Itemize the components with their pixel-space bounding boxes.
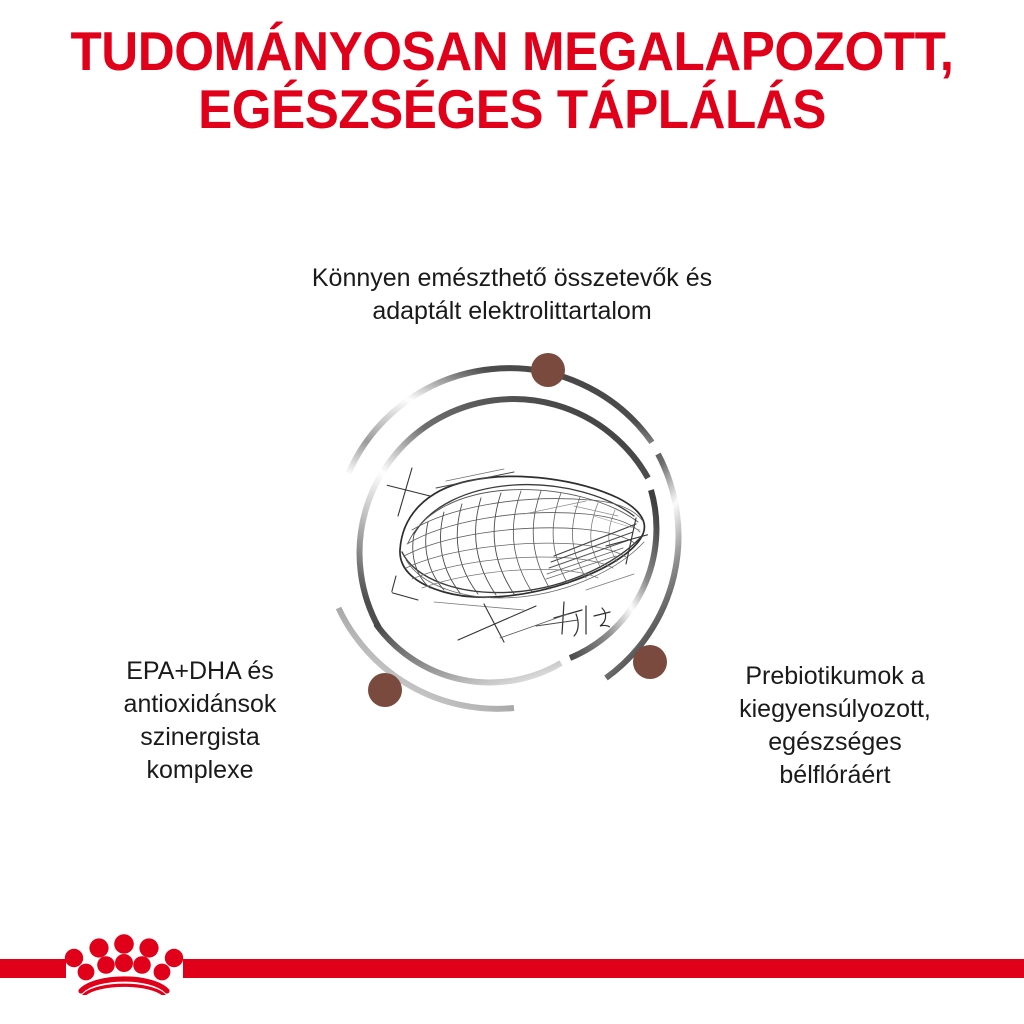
royal-canin-crown-icon bbox=[62, 925, 186, 995]
node-dot-bottom-left bbox=[368, 673, 402, 707]
outer-ring bbox=[339, 368, 679, 709]
kibble-sketch bbox=[368, 468, 658, 642]
node-dot-bottom-right bbox=[633, 645, 667, 679]
feature-label-left: EPA+DHA és antioxidánsok szinergista kom… bbox=[55, 655, 345, 787]
footer-bar-left bbox=[0, 959, 66, 978]
footer-bar-right bbox=[183, 959, 1024, 978]
kibble-technical-sketch-icon bbox=[318, 338, 708, 728]
page-title: TUDOMÁNYOSAN MEGALAPOZOTT, EGÉSZSÉGES TÁ… bbox=[36, 22, 988, 138]
inner-ring bbox=[360, 399, 657, 682]
brand-logo bbox=[62, 925, 186, 995]
node-dot-top bbox=[531, 353, 565, 387]
feature-label-right: Prebiotikumok a kiegyensúlyozott, egészs… bbox=[690, 660, 980, 792]
feature-label-top: Könnyen emészthető összetevők és adaptál… bbox=[262, 262, 762, 328]
kibble-ring-diagram bbox=[318, 338, 708, 728]
